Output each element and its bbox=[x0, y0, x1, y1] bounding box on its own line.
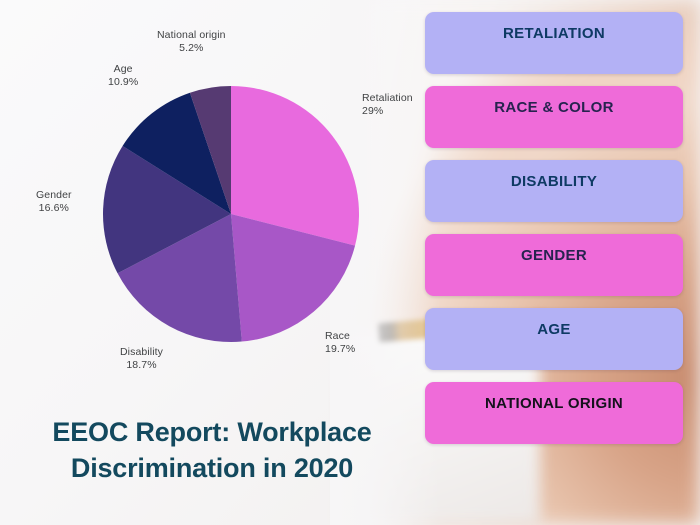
slide-canvas: Retaliation29%Race19.7%Disability18.7%Ge… bbox=[0, 0, 700, 525]
legend-bar-label: AGE bbox=[425, 321, 683, 338]
pie-label-percent: 18.7% bbox=[120, 359, 163, 372]
page-title: EEOC Report: Workplace Discrimination in… bbox=[12, 414, 412, 486]
legend-bar-disability[interactable]: DISABILITY bbox=[425, 160, 683, 222]
legend-bar-national-origin[interactable]: NATIONAL ORIGIN bbox=[425, 382, 683, 444]
pie-label-gender: Gender16.6% bbox=[36, 189, 72, 215]
pie-label-name: Disability bbox=[120, 346, 163, 359]
legend-bar-label: RACE & COLOR bbox=[425, 99, 683, 116]
pie-label-national-origin: National origin5.2% bbox=[157, 29, 226, 55]
pie-label-race: Race19.7% bbox=[325, 330, 355, 356]
pie-label-name: Retaliation bbox=[362, 92, 413, 105]
legend-bar-label: RETALIATION bbox=[425, 25, 683, 42]
pie-label-retaliation: Retaliation29% bbox=[362, 92, 413, 118]
pie-label-percent: 10.9% bbox=[108, 76, 138, 89]
legend-bar-age[interactable]: AGE bbox=[425, 308, 683, 370]
legend-bar-label: DISABILITY bbox=[425, 173, 683, 190]
legend-bar-gender[interactable]: GENDER bbox=[425, 234, 683, 296]
pie-label-name: Gender bbox=[36, 189, 72, 202]
pie-label-percent: 19.7% bbox=[325, 343, 355, 356]
title-line-2: Discrimination in 2020 bbox=[12, 450, 412, 486]
pie-label-name: Race bbox=[325, 330, 355, 343]
legend-bar-label: GENDER bbox=[425, 247, 683, 264]
legend-bar-label: NATIONAL ORIGIN bbox=[425, 395, 683, 412]
pie-label-age: Age10.9% bbox=[108, 63, 138, 89]
pie-label-percent: 16.6% bbox=[36, 202, 72, 215]
pie-label-name: National origin bbox=[157, 29, 226, 42]
title-line-1: EEOC Report: Workplace bbox=[12, 414, 412, 450]
pie-slices bbox=[103, 86, 359, 342]
pie-label-disability: Disability18.7% bbox=[120, 346, 163, 372]
pie-chart: Retaliation29%Race19.7%Disability18.7%Ge… bbox=[0, 0, 420, 400]
legend-bar-race-color[interactable]: RACE & COLOR bbox=[425, 86, 683, 148]
pie-label-percent: 29% bbox=[362, 105, 413, 118]
legend-bar-retaliation[interactable]: RETALIATION bbox=[425, 12, 683, 74]
pie-label-percent: 5.2% bbox=[157, 42, 226, 55]
pie-label-name: Age bbox=[108, 63, 138, 76]
legend-list: RETALIATIONRACE & COLORDISABILITYGENDERA… bbox=[425, 12, 683, 456]
